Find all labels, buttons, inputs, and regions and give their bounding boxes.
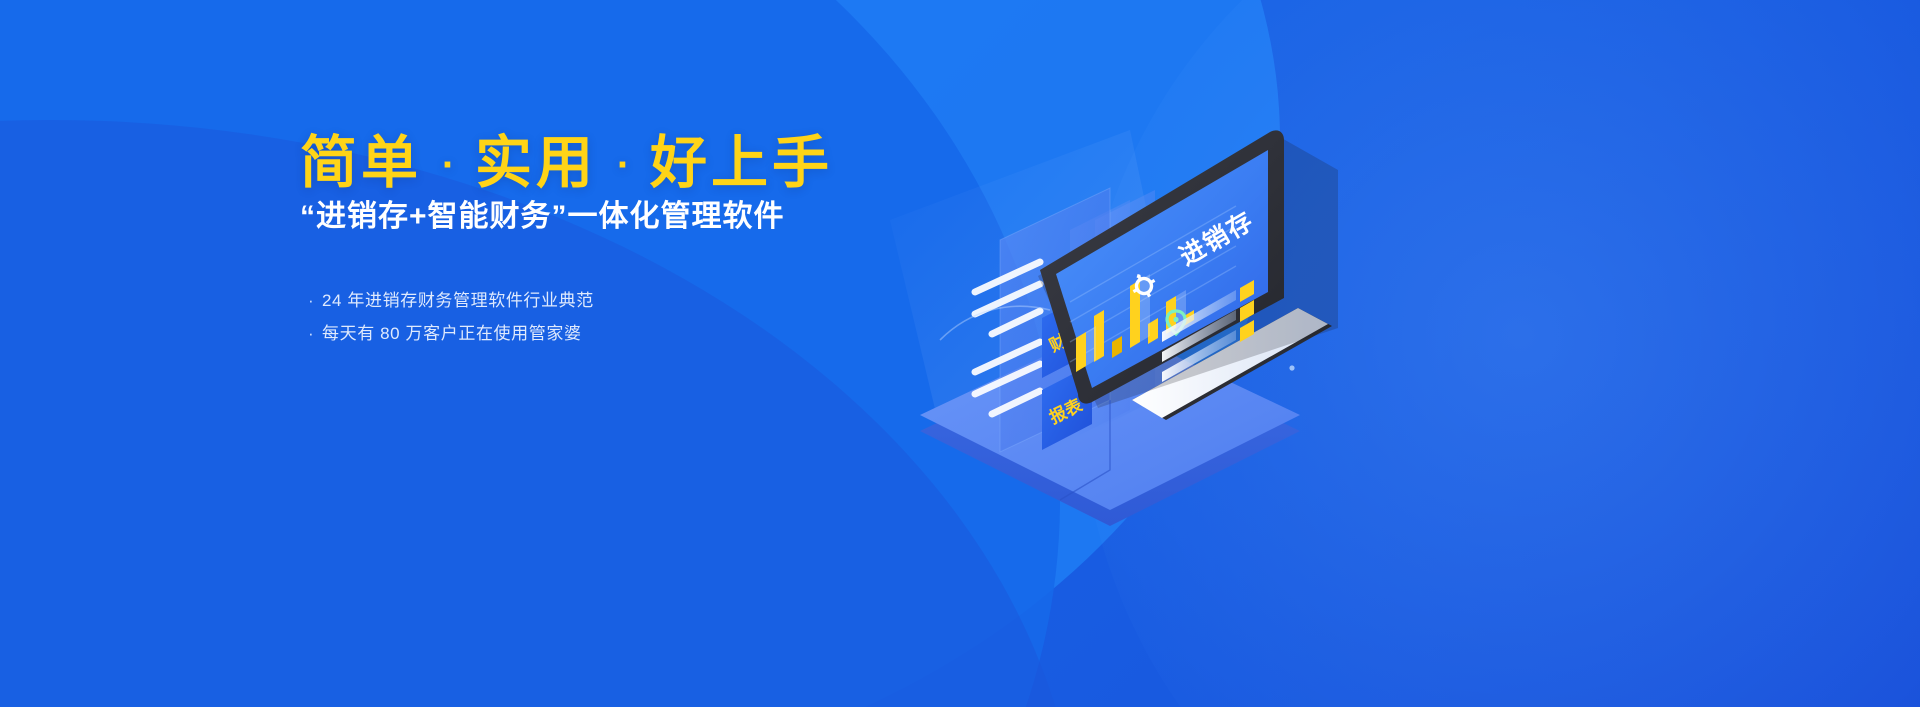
bullet-text: 24 年进销存财务管理软件行业典范 bbox=[322, 291, 594, 310]
headline-word-3: 好上手 bbox=[650, 131, 833, 195]
bullet-list: ·24 年进销存财务管理软件行业典范 ·每天有 80 万客户正在使用管家婆 bbox=[308, 288, 940, 347]
bullet-text: 每天有 80 万客户正在使用管家婆 bbox=[322, 324, 582, 343]
banner-root: 简单 · 实用 · 好上手 “进销存+智能财务”一体化管理软件 ·24 年进销存… bbox=[0, 0, 1920, 707]
headline-separator-2: · bbox=[617, 143, 630, 187]
isometric-illustration: 财务 报表 bbox=[880, 70, 1350, 570]
headline-word-2: 实用 bbox=[475, 131, 597, 195]
bullet-item: ·24 年进销存财务管理软件行业典范 bbox=[308, 288, 940, 314]
bullet-marker-icon: · bbox=[308, 288, 322, 314]
sparkle-dot bbox=[1289, 365, 1294, 370]
headline-word-1: 简单 bbox=[300, 131, 422, 195]
copy-block: 简单 · 实用 · 好上手 “进销存+智能财务”一体化管理软件 ·24 年进销存… bbox=[300, 133, 940, 353]
headline: 简单 · 实用 · 好上手 bbox=[300, 133, 940, 193]
bullet-item: ·每天有 80 万客户正在使用管家婆 bbox=[308, 321, 940, 347]
bullet-marker-icon: · bbox=[308, 321, 322, 347]
subheadline: “进销存+智能财务”一体化管理软件 bbox=[300, 197, 940, 236]
headline-separator-1: · bbox=[442, 143, 455, 187]
